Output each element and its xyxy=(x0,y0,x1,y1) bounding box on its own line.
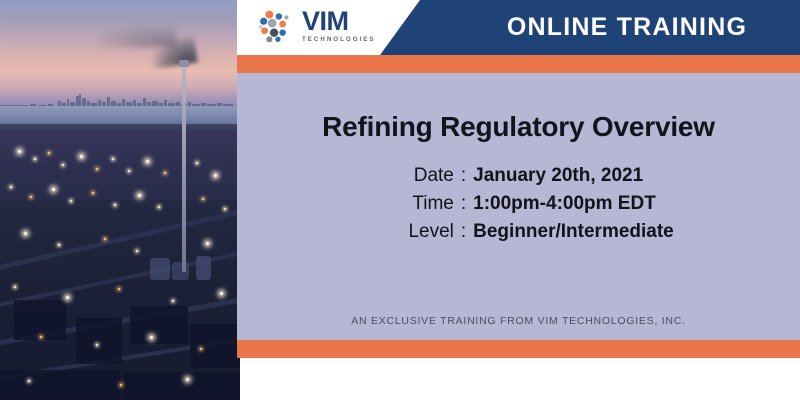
detail-separator: : xyxy=(454,193,473,215)
process-unit xyxy=(124,372,240,400)
logo-wordmark: VIM xyxy=(302,9,376,35)
vim-technologies-logo: VIM TECHNOLOGIES xyxy=(257,7,376,45)
vim-sphere-cluster-logo-icon xyxy=(257,7,295,45)
session-details-list: Date : January 20th, 2021 Time : 1:00pm-… xyxy=(237,165,800,243)
logo-tagline: TECHNOLOGIES xyxy=(302,36,376,43)
process-unit xyxy=(14,300,66,340)
detail-row-date: Date : January 20th, 2021 xyxy=(237,165,800,187)
process-unit xyxy=(190,324,240,368)
process-unit xyxy=(0,370,120,400)
footnote: AN EXCLUSIVE TRAINING FROM VIM TECHNOLOG… xyxy=(237,315,800,327)
detail-label: Level xyxy=(304,221,454,243)
accent-bar-top xyxy=(237,55,800,73)
detail-value: January 20th, 2021 xyxy=(473,165,733,187)
storage-tank xyxy=(196,256,211,280)
detail-label: Time xyxy=(304,193,454,215)
content-panel: VIM TECHNOLOGIES ONLINE TRAINING Refinin… xyxy=(237,0,800,358)
smokestack-icon xyxy=(182,62,186,272)
panel-body: Refining Regulatory Overview Date : Janu… xyxy=(237,73,800,340)
page-title: Refining Regulatory Overview xyxy=(237,111,800,143)
detail-value: Beginner/Intermediate xyxy=(473,221,733,243)
process-unit xyxy=(76,318,122,364)
logo-text-block: VIM TECHNOLOGIES xyxy=(302,9,376,43)
detail-separator: : xyxy=(454,221,473,243)
storage-tank xyxy=(172,262,189,280)
banner-heading: ONLINE TRAINING xyxy=(462,0,792,55)
detail-row-time: Time : 1:00pm-4:00pm EDT xyxy=(237,193,800,215)
detail-row-level: Level : Beginner/Intermediate xyxy=(237,221,800,243)
accent-bar-bottom xyxy=(237,340,800,358)
online-training-banner: VIM TECHNOLOGIES ONLINE TRAINING Refinin… xyxy=(0,0,800,400)
panel-header: VIM TECHNOLOGIES ONLINE TRAINING xyxy=(237,0,800,55)
detail-label: Date xyxy=(304,165,454,187)
storage-tank xyxy=(150,258,170,280)
smokestack-cap xyxy=(179,60,189,67)
process-unit xyxy=(130,306,188,344)
detail-separator: : xyxy=(454,165,473,187)
detail-value: 1:00pm-4:00pm EDT xyxy=(473,193,733,215)
refinery-photo xyxy=(0,0,240,400)
